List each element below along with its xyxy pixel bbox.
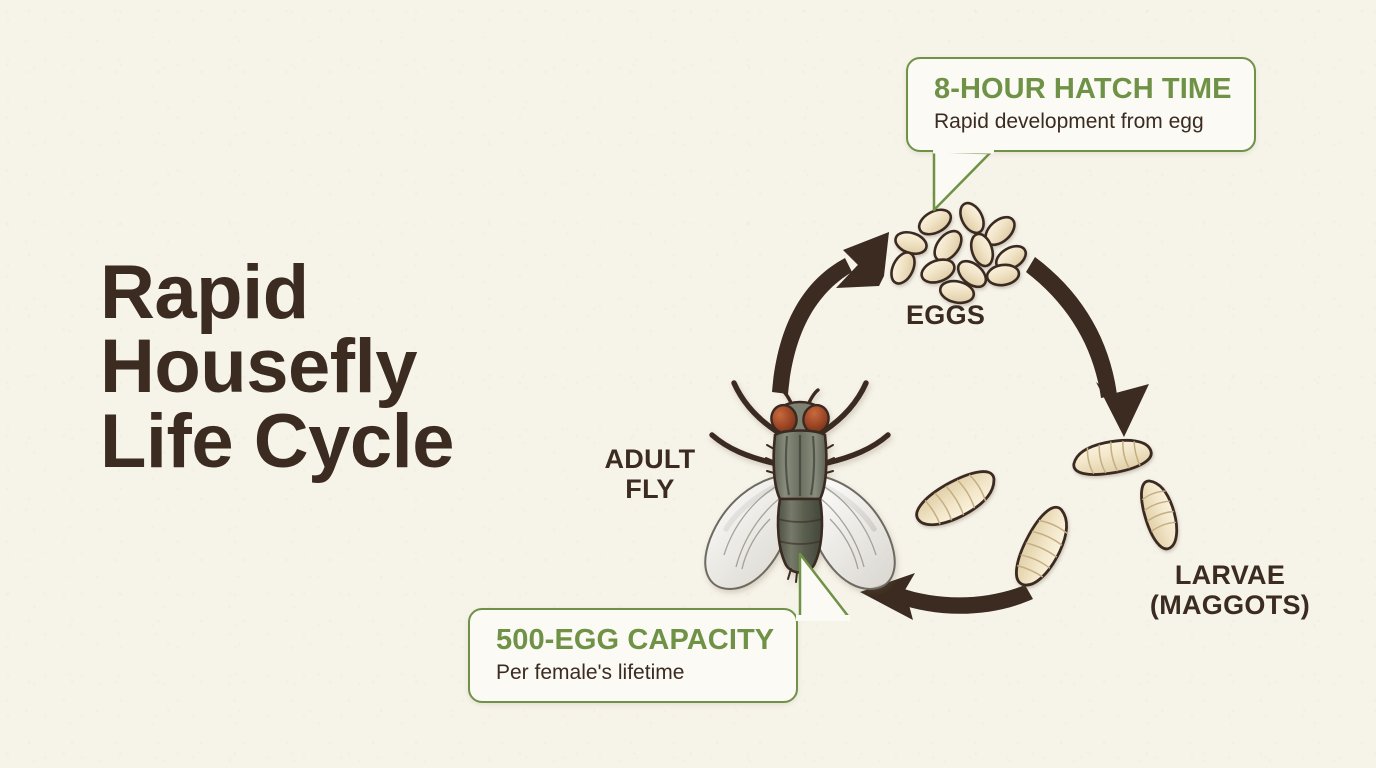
title-line-2: Housefly — [100, 330, 620, 404]
stage-label-larvae: LARVAE (MAGGOTS) — [1110, 560, 1350, 620]
larvae-label-line-1: LARVAE — [1110, 560, 1350, 590]
callout-hatch-title: 8-HOUR HATCH TIME — [934, 73, 1232, 105]
callout-capacity-title: 500-EGG CAPACITY — [496, 624, 774, 656]
stage-label-eggs: EGGS — [906, 300, 985, 330]
callout-hatch-time: 8-HOUR HATCH TIME Rapid development from… — [906, 57, 1256, 152]
page-title: Rapid Housefly Life Cycle — [100, 256, 620, 479]
eggs-cluster-icon — [887, 199, 1030, 306]
larvae-label-line-2: (MAGGOTS) — [1110, 590, 1350, 620]
adult-label-line-1: ADULT — [560, 444, 740, 474]
callout-capacity-tail — [760, 550, 850, 620]
arrow-larvae-to-adult — [860, 573, 1033, 620]
stage-label-adult-fly: ADULT FLY — [560, 444, 740, 504]
title-line-1: Rapid — [100, 256, 620, 330]
arrow-adult-to-eggs — [772, 232, 889, 394]
adult-label-line-2: FLY — [560, 474, 740, 504]
callout-hatch-subtitle: Rapid development from egg — [934, 109, 1232, 134]
callout-capacity-subtitle: Per female's lifetime — [496, 660, 774, 685]
infographic-canvas: Rapid Housefly Life Cycle EGGS ADULT FLY… — [0, 0, 1376, 768]
arrow-eggs-to-larvae — [1026, 257, 1149, 437]
callout-hatch-tail — [932, 150, 1002, 214]
callout-egg-capacity: 500-EGG CAPACITY Per female's lifetime — [468, 608, 798, 703]
title-line-3: Life Cycle — [100, 405, 620, 479]
